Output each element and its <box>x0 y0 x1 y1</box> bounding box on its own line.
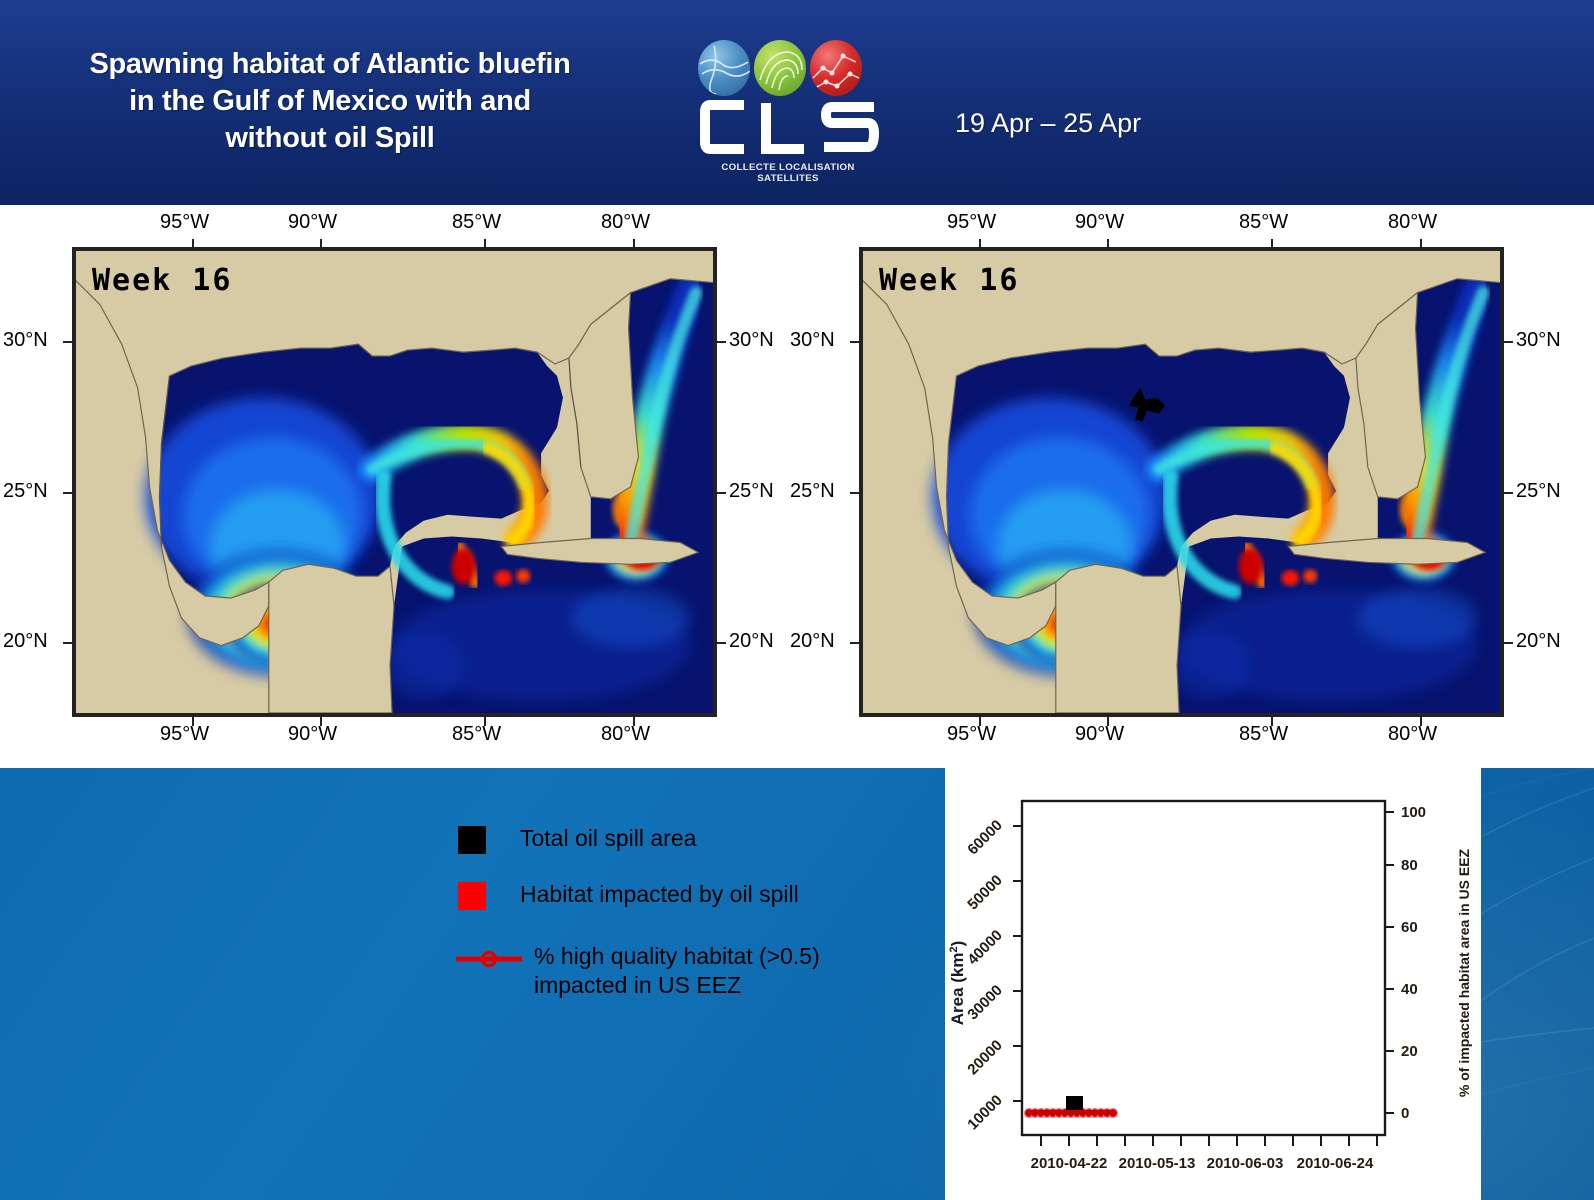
lat-label-right: 25°N <box>1516 480 1561 503</box>
lon-label-bottom: 90°W <box>1075 723 1124 746</box>
lat-tick <box>850 492 859 494</box>
lon-tick <box>1271 239 1273 248</box>
lat-label-left: 20°N <box>790 630 835 653</box>
lat-tick <box>717 642 726 644</box>
legend-swatch-red-square <box>458 882 486 910</box>
week-label-right: Week 16 <box>879 263 1019 298</box>
page-header: Spawning habitat of Atlantic bluefin in … <box>0 0 1594 205</box>
y-axis-title: Area (km2) <box>948 941 967 1026</box>
lon-tick <box>320 239 322 248</box>
logo-wordmark <box>692 96 884 158</box>
lon-label-top: 85°W <box>1239 211 1288 234</box>
logo-land-icon <box>754 40 806 96</box>
chart-legend: Total oil spill area Habitat impacted by… <box>458 824 888 1022</box>
y2-tick-label: 80 <box>1401 857 1418 874</box>
legend-label: Habitat impacted by oil spill <box>520 880 888 909</box>
lat-label-right: 30°N <box>1516 329 1561 352</box>
lat-tick <box>717 341 726 343</box>
lat-label-left: 25°N <box>3 480 48 503</box>
legend-label: % high quality habitat (>0.5) impacted i… <box>534 942 888 1000</box>
lon-tick <box>484 239 486 248</box>
x-tick-label: 2010-06-24 <box>1297 1155 1374 1172</box>
lon-label-bottom: 85°W <box>452 723 501 746</box>
lat-label-right: 20°N <box>1516 630 1561 653</box>
y2-axis-title: % of impacted habitat area in US EEZ <box>1456 848 1472 1097</box>
lon-tick <box>1420 239 1422 248</box>
legend-line-circle-marker <box>456 950 522 968</box>
lat-label-right: 20°N <box>729 630 774 653</box>
lon-label-bottom: 90°W <box>288 723 337 746</box>
map-with-oil-spill: Week 16 95°W 90°W 85°W 80°W 95°W 90°W 85… <box>794 205 1594 768</box>
week-label-left: Week 16 <box>92 263 232 298</box>
lon-label-bottom: 95°W <box>160 723 209 746</box>
impact-chart: 10000 20000 30000 40000 50000 60000 Area… <box>945 768 1481 1200</box>
series-habitat-impacted-bars <box>1028 1110 1114 1115</box>
x-tick-label: 2010-04-22 <box>1031 1155 1108 1172</box>
lon-tick <box>979 239 981 248</box>
x-tick-label: 2010-05-13 <box>1119 1155 1196 1172</box>
x-tick-label: 2010-06-03 <box>1207 1155 1284 1172</box>
impact-chart-panel: 10000 20000 30000 40000 50000 60000 Area… <box>945 768 1481 1200</box>
legend-item-percent-high-quality-habitat: % high quality habitat (>0.5) impacted i… <box>458 942 888 1000</box>
lat-tick <box>717 492 726 494</box>
logo-ocean-icon <box>698 40 750 96</box>
lon-label-bottom: 95°W <box>947 723 996 746</box>
maps-band: Week 16 95°W 90°W 85°W 80°W 95°W 90°W 85… <box>0 205 1594 768</box>
lat-label-left: 30°N <box>790 329 835 352</box>
lat-tick <box>1504 341 1513 343</box>
page-title: Spawning habitat of Atlantic bluefin in … <box>10 46 650 157</box>
lat-tick <box>63 492 72 494</box>
lon-label-bottom: 80°W <box>601 723 650 746</box>
lon-label-top: 90°W <box>288 211 337 234</box>
legend-item-habitat-impacted: Habitat impacted by oil spill <box>458 880 888 914</box>
lat-tick <box>850 341 859 343</box>
lat-tick <box>63 341 72 343</box>
y2-tick-label: 100 <box>1401 804 1426 821</box>
y2-tick-label: 60 <box>1401 919 1418 936</box>
cls-logo: COLLECTE LOCALISATION SATELLITES <box>692 40 884 195</box>
lat-label-left: 25°N <box>790 480 835 503</box>
lon-label-top: 95°W <box>947 211 996 234</box>
lon-tick <box>633 239 635 248</box>
legend-label: Total oil spill area <box>520 824 888 853</box>
lon-label-top: 80°W <box>1388 211 1437 234</box>
lat-tick <box>63 642 72 644</box>
lat-label-left: 20°N <box>3 630 48 653</box>
lat-tick <box>1504 492 1513 494</box>
logo-subtitle: COLLECTE LOCALISATION SATELLITES <box>690 162 886 184</box>
lon-label-bottom: 80°W <box>1388 723 1437 746</box>
lat-tick <box>1504 642 1513 644</box>
lon-label-top: 85°W <box>452 211 501 234</box>
lat-label-left: 30°N <box>3 329 48 352</box>
lon-label-top: 80°W <box>601 211 650 234</box>
y2-tick-label: 0 <box>1401 1105 1409 1122</box>
map-plot-area-left: Week 16 <box>72 247 717 717</box>
bottom-band: Total oil spill area Habitat impacted by… <box>0 768 1594 1200</box>
lon-tick <box>192 239 194 248</box>
lon-label-bottom: 85°W <box>1239 723 1288 746</box>
lon-label-top: 95°W <box>160 211 209 234</box>
lat-label-right: 30°N <box>729 329 774 352</box>
y2-tick-label: 20 <box>1401 1043 1418 1060</box>
date-range-label: 19 Apr – 25 Apr <box>955 108 1141 139</box>
lon-tick <box>1107 239 1109 248</box>
lat-tick <box>850 642 859 644</box>
legend-swatch-black-square <box>458 826 486 854</box>
map-plot-area-right: Week 16 <box>859 247 1504 717</box>
y2-tick-label: 40 <box>1401 981 1418 998</box>
lat-label-right: 25°N <box>729 480 774 503</box>
map-without-oil-spill: Week 16 95°W 90°W 85°W 80°W 95°W 90°W 85… <box>0 205 800 768</box>
legend-item-total-oil-spill-area: Total oil spill area <box>458 824 888 858</box>
lon-label-top: 90°W <box>1075 211 1124 234</box>
logo-chart-icon <box>810 40 862 96</box>
